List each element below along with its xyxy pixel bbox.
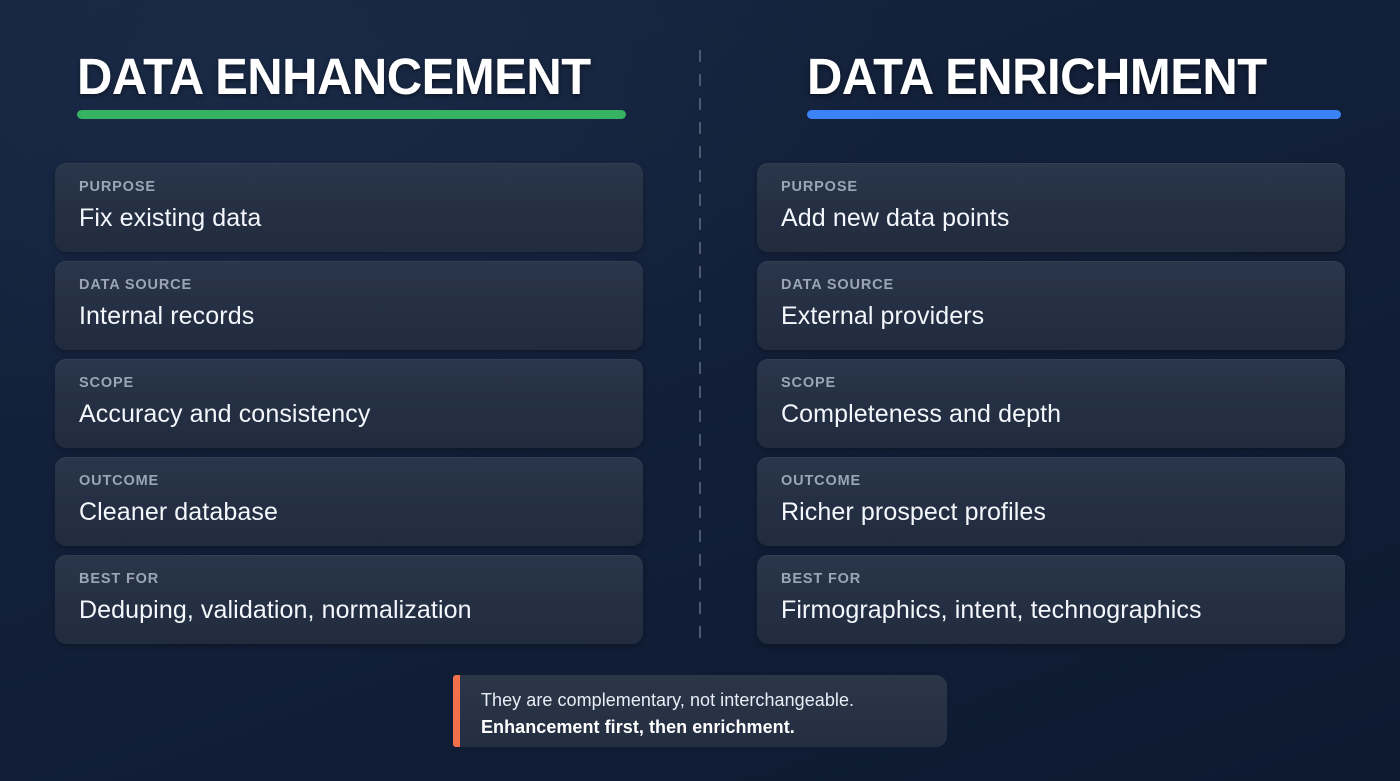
card-label: OUTCOME bbox=[781, 474, 1345, 489]
card-value: Cleaner database bbox=[79, 498, 643, 527]
card-label: DATA SOURCE bbox=[781, 278, 1345, 293]
card-row: DATA SOURCE Internal records bbox=[55, 261, 643, 350]
card-label: SCOPE bbox=[781, 376, 1345, 391]
card-row: PURPOSE Fix existing data bbox=[55, 163, 643, 252]
card-row: SCOPE Completeness and depth bbox=[757, 359, 1345, 448]
card-label: DATA SOURCE bbox=[79, 278, 643, 293]
column-title-right: DATA ENRICHMENT bbox=[807, 47, 1267, 106]
card-value: Deduping, validation, normalization bbox=[79, 596, 643, 625]
card-label: PURPOSE bbox=[781, 180, 1345, 195]
card-value: Fix existing data bbox=[79, 204, 643, 233]
card-row: DATA SOURCE External providers bbox=[757, 261, 1345, 350]
infographic-canvas: DATA ENHANCEMENT PURPOSE Fix existing da… bbox=[0, 0, 1400, 781]
card-value: Completeness and depth bbox=[781, 400, 1345, 429]
title-underline-blue bbox=[807, 110, 1341, 119]
column-title-left: DATA ENHANCEMENT bbox=[77, 47, 591, 106]
card-row: SCOPE Accuracy and consistency bbox=[55, 359, 643, 448]
footnote-accent-bar bbox=[453, 675, 460, 747]
card-row: BEST FOR Deduping, validation, normaliza… bbox=[55, 555, 643, 644]
column-divider bbox=[699, 50, 701, 646]
card-value: Richer prospect profiles bbox=[781, 498, 1345, 527]
card-label: BEST FOR bbox=[79, 572, 643, 587]
card-list-left: PURPOSE Fix existing data DATA SOURCE In… bbox=[55, 163, 643, 644]
footnote-line-1: They are complementary, not interchangea… bbox=[481, 688, 927, 713]
card-label: PURPOSE bbox=[79, 180, 643, 195]
footnote-callout: They are complementary, not interchangea… bbox=[453, 675, 947, 747]
card-value: Accuracy and consistency bbox=[79, 400, 643, 429]
card-value: Internal records bbox=[79, 302, 643, 331]
card-value: External providers bbox=[781, 302, 1345, 331]
card-value: Add new data points bbox=[781, 204, 1345, 233]
card-row: OUTCOME Cleaner database bbox=[55, 457, 643, 546]
card-label: SCOPE bbox=[79, 376, 643, 391]
card-label: BEST FOR bbox=[781, 572, 1345, 587]
footnote-body: They are complementary, not interchangea… bbox=[460, 675, 947, 747]
card-row: OUTCOME Richer prospect profiles bbox=[757, 457, 1345, 546]
card-label: OUTCOME bbox=[79, 474, 643, 489]
footnote-line-2: Enhancement first, then enrichment. bbox=[481, 715, 927, 740]
card-list-right: PURPOSE Add new data points DATA SOURCE … bbox=[757, 163, 1345, 644]
card-value: Firmographics, intent, technographics bbox=[781, 596, 1345, 625]
card-row: PURPOSE Add new data points bbox=[757, 163, 1345, 252]
card-row: BEST FOR Firmographics, intent, technogr… bbox=[757, 555, 1345, 644]
title-underline-green bbox=[77, 110, 626, 119]
